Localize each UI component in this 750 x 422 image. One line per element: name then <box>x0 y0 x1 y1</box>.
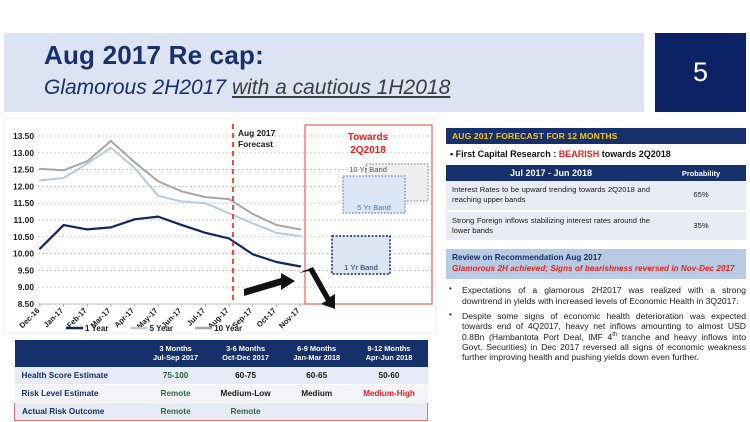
review-bullet-list: Expectations of a glamorous 2H2017 was r… <box>446 285 746 362</box>
page-subtitle-underlined: with a cautious 1H2018 <box>232 76 450 99</box>
table-cell: Remote <box>208 402 283 420</box>
table-row: Risk Level EstimateRemoteMedium-LowMediu… <box>15 384 428 402</box>
right-panel: AUG 2017 FORECAST FOR 12 MONTHS • First … <box>446 128 746 368</box>
probability-statement: Interest Rates to be upward trending tow… <box>446 181 656 211</box>
forecast-label-line2: Forecast <box>238 139 273 149</box>
page-number: 5 <box>655 33 746 112</box>
table-col-3: 9-12 Months Apr-Jun 2018 <box>350 340 427 367</box>
table-cell: 50-60 <box>350 367 427 385</box>
forecast-bullet-post: towards 2Q2018 <box>599 149 671 159</box>
y-axis-tick-label: 13.00 <box>13 148 34 158</box>
prob-header-probability: Probability <box>656 165 746 181</box>
probability-row: Strong Foreign inflows stabilizing inter… <box>446 211 746 242</box>
forecast-panel-header: AUG 2017 FORECAST FOR 12 MONTHS <box>446 128 746 144</box>
y-axis-tick-label: 11.00 <box>14 215 35 225</box>
forecast-label-line1: Aug 2017 <box>238 128 276 138</box>
table-header-row: 3 Months Jul-Sep 2017 3-6 Months Oct-Dec… <box>15 340 428 367</box>
table-cell: 60-75 <box>208 367 283 385</box>
page-number-box: 5 <box>655 33 746 112</box>
probability-statement: Strong Foreign inflows stabilizing inter… <box>446 211 656 242</box>
y-axis-tick-label: 11.50 <box>14 198 35 208</box>
col-1-line2: Oct-Dec 2017 <box>222 353 269 362</box>
table-cell: Medium <box>283 384 351 402</box>
table-cell: Remote <box>143 384 208 402</box>
probability-table-body: Interest Rates to be upward trending tow… <box>446 181 746 241</box>
y-axis-tick-label: 12.50 <box>13 165 34 175</box>
towards-label-line2: 2Q2018 <box>350 145 386 156</box>
probability-header-row: Jul 2017 - Jun 2018 Probability <box>446 165 746 181</box>
review-title: Review on Recommendation Aug 2017 <box>452 253 740 264</box>
y-axis-tick-label: 10.50 <box>13 232 34 242</box>
page-title: Aug 2017 Re cap: <box>44 42 264 68</box>
col-0-line1: 3 Months <box>159 344 191 353</box>
forecast-bullet-pre: • First Capital Research : <box>450 149 559 159</box>
table-row: Actual Risk OutcomeRemoteRemote <box>15 402 428 420</box>
table-col-0: 3 Months Jul-Sep 2017 <box>143 340 208 367</box>
table-cell: Remote <box>143 402 208 420</box>
table-corner-cell <box>15 340 143 367</box>
table-cell <box>283 402 351 420</box>
y-axis-tick-label: 10.00 <box>13 249 34 259</box>
band-10yr-label: 10 Yr Band <box>349 165 387 174</box>
band-1yr-label: 1 Yr Band <box>344 263 378 272</box>
row-label: Risk Level Estimate <box>15 384 143 402</box>
forecast-bullet: • First Capital Research : BEARISH towar… <box>446 144 746 164</box>
chart-legend: 1 Year5 Year10 Year <box>66 324 242 333</box>
review-bullet: Despite some signs of economic health de… <box>446 311 746 363</box>
table-body: Health Score Estimate75-10060-7560-6550-… <box>15 367 428 421</box>
band-5yr-label: 5 Yr Band <box>357 203 391 212</box>
table-col-2: 6-9 Months Jan-Mar 2018 <box>283 340 351 367</box>
row-label: Actual Risk Outcome <box>15 402 143 420</box>
prob-header-period: Jul 2017 - Jun 2018 <box>446 165 656 181</box>
probability-table: Jul 2017 - Jun 2018 Probability Interest… <box>446 165 746 242</box>
legend-label-10-year: 10 Year <box>214 324 242 333</box>
forecast-bullet-bearish: BEARISH <box>559 149 600 159</box>
col-2-line1: 6-9 Months <box>297 344 336 353</box>
y-axis-tick-label: 8.50 <box>18 299 35 309</box>
col-3-line2: Apr-Jun 2018 <box>366 353 413 362</box>
probability-row: Interest Rates to be upward trending tow… <box>446 181 746 211</box>
y-axis-tick-label: 9.50 <box>18 265 35 275</box>
review-subtitle: Glamorous 2H achieved; Signs of bearishn… <box>452 264 740 275</box>
y-axis-tick-label: 12.00 <box>13 181 34 191</box>
legend-label-1-year: 1 Year <box>85 324 108 333</box>
probability-value: 35% <box>656 211 746 242</box>
table-col-1: 3-6 Months Oct-Dec 2017 <box>208 340 283 367</box>
towards-label-line1: Towards <box>348 132 389 143</box>
legend-label-5-year: 5 Year <box>150 324 173 333</box>
probability-value: 65% <box>656 181 746 211</box>
table-cell: 75-100 <box>143 367 208 385</box>
yield-curve-chart: 13.5013.0012.5012.0011.5011.0010.5010.00… <box>4 118 436 334</box>
col-3-line1: 9-12 Months <box>367 344 410 353</box>
y-axis-tick-label: 9.00 <box>18 282 35 292</box>
page-subtitle-plain: Glamorous 2H2017 <box>44 76 232 99</box>
review-bullet: Expectations of a glamorous 2H2017 was r… <box>446 285 746 306</box>
table-cell: Medium-High <box>350 384 427 402</box>
table-row: Health Score Estimate75-10060-7560-6550-… <box>15 367 428 385</box>
review-box: Review on Recommendation Aug 2017 Glamor… <box>446 249 746 279</box>
col-1-line1: 3-6 Months <box>226 344 265 353</box>
chart-svg: 13.5013.0012.5012.0011.5011.0010.5010.00… <box>4 118 436 334</box>
slide-root: Aug 2017 Re cap: Glamorous 2H2017 with a… <box>0 0 750 422</box>
col-2-line2: Jan-Mar 2018 <box>293 353 340 362</box>
row-label: Health Score Estimate <box>15 367 143 385</box>
table-cell: Medium-Low <box>208 384 283 402</box>
y-axis-tick-label: 13.50 <box>13 131 34 141</box>
risk-estimate-table: 3 Months Jul-Sep 2017 3-6 Months Oct-Dec… <box>14 340 428 421</box>
table-cell: 60-65 <box>283 367 351 385</box>
page-subtitle: Glamorous 2H2017 with a cautious 1H2018 <box>44 77 450 98</box>
col-0-line2: Jul-Sep 2017 <box>153 353 198 362</box>
table-cell <box>350 402 427 420</box>
